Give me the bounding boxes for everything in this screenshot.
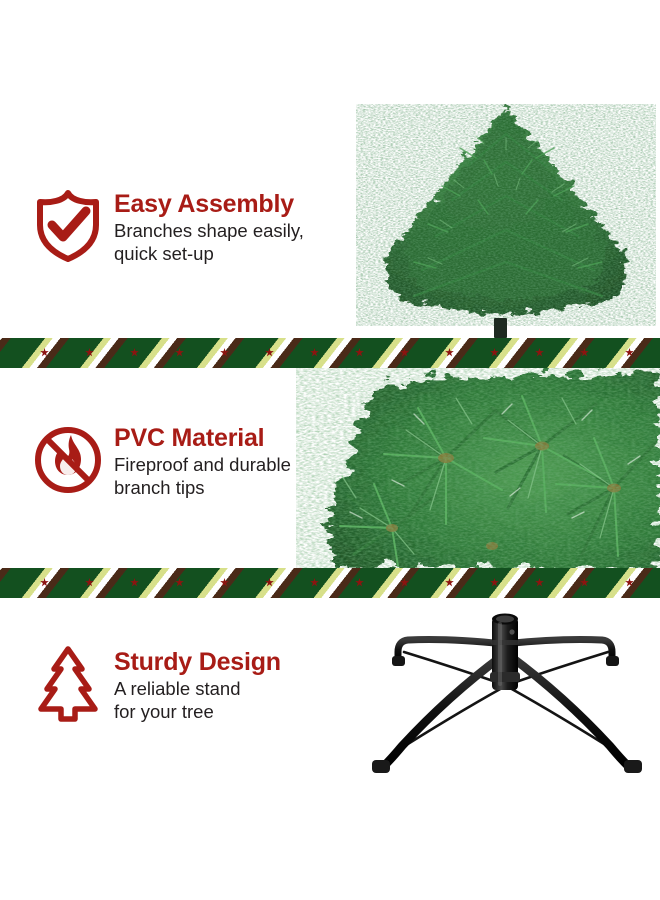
stripe-star-dot xyxy=(130,578,139,587)
stripe-star-dot xyxy=(310,578,319,587)
stripe-star-dot xyxy=(535,578,544,587)
stripe-star-dot xyxy=(40,348,49,357)
stripe-star-dot xyxy=(445,348,454,357)
stripe-star-dot xyxy=(265,578,274,587)
tree-pole-stub xyxy=(494,318,507,338)
stripe-star-dot xyxy=(490,348,499,357)
stripe-star-dot xyxy=(445,578,454,587)
stripe-star-dot xyxy=(220,578,229,587)
infographic-page: Easy Assembly Branches shape easily, qui… xyxy=(0,0,660,900)
stripe-star-dot xyxy=(85,348,94,357)
stripe-star-dot xyxy=(580,578,589,587)
stripe-star-dot xyxy=(130,348,139,357)
tree-stand-photo xyxy=(352,604,660,794)
stripe-star-dot xyxy=(490,578,499,587)
pine-needles-closeup-photo xyxy=(296,368,660,568)
stripe-star-dot xyxy=(625,578,634,587)
stripe-star-dot xyxy=(265,348,274,357)
stripe-star-dot xyxy=(355,348,364,357)
stripe-star-dot xyxy=(535,348,544,357)
stripe-star-dot xyxy=(85,578,94,587)
christmas-tree-photo xyxy=(348,104,660,338)
stripe-star-dot xyxy=(175,578,184,587)
stripe-star-dot xyxy=(310,348,319,357)
shield-check-icon xyxy=(32,186,104,266)
no-fire-icon xyxy=(32,420,104,500)
stripe-star-dot xyxy=(400,578,409,587)
candy-stripe-divider-bottom xyxy=(0,568,660,598)
stripe-star-dot xyxy=(625,348,634,357)
stripe-star-dot xyxy=(175,348,184,357)
stripe-star-dot xyxy=(220,348,229,357)
stripe-dots xyxy=(0,338,660,368)
stripe-dots xyxy=(0,568,660,598)
stripe-star-dot xyxy=(400,348,409,357)
pine-tree-outline-icon xyxy=(32,644,104,724)
stripe-star-dot xyxy=(40,578,49,587)
stripe-star-dot xyxy=(355,578,364,587)
stripe-star-dot xyxy=(580,348,589,357)
candy-stripe-divider-top xyxy=(0,338,660,368)
